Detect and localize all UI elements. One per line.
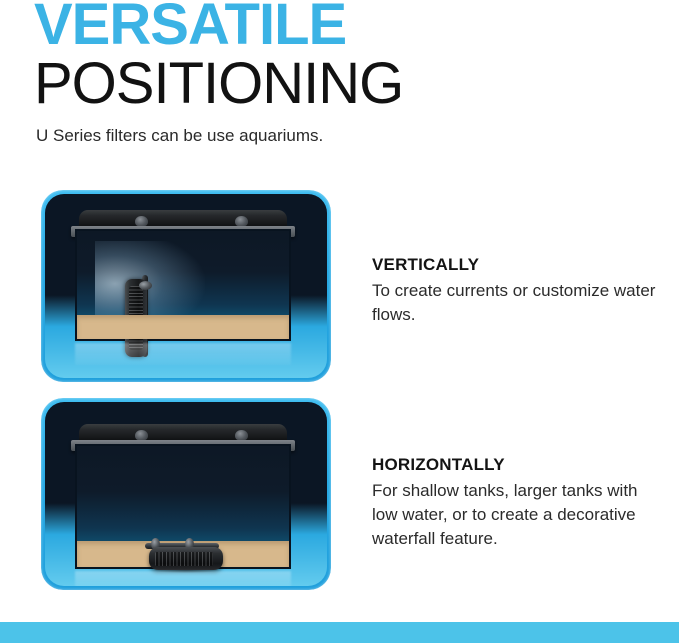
title-line-positioning: POSITIONING	[34, 54, 403, 114]
aquarium-image-vertical	[41, 190, 331, 382]
filter-horizontal	[143, 537, 223, 571]
gravel-bed	[77, 315, 289, 339]
tank-glass	[75, 444, 291, 569]
panel-scene	[45, 402, 327, 586]
filter-grille-ribs	[155, 552, 213, 566]
callout-vertical: VERTICALLY To create currents or customi…	[372, 255, 662, 327]
infographic-page: VERSATILE POSITIONING U Series filters c…	[0, 0, 679, 643]
callout-heading-vertical: VERTICALLY	[372, 255, 662, 275]
page-subtitle: U Series filters can be use aquariums.	[36, 126, 323, 146]
tank-glass	[75, 229, 291, 341]
page-title: VERSATILE POSITIONING	[34, 0, 403, 114]
callout-horizontal: HORIZONTALLY For shallow tanks, larger t…	[372, 455, 662, 551]
bottom-accent-bar	[0, 622, 679, 643]
callout-body-vertical: To create currents or customize water fl…	[372, 279, 662, 327]
tank-reflection	[75, 343, 291, 365]
callout-heading-horizontal: HORIZONTALLY	[372, 455, 662, 475]
panel-scene	[45, 194, 327, 378]
title-line-versatile: VERSATILE	[34, 0, 403, 52]
callout-body-horizontal: For shallow tanks, larger tanks with low…	[372, 479, 662, 551]
tank-reflection	[75, 571, 291, 586]
suction-cup-top	[139, 281, 152, 290]
aquarium-image-horizontal	[41, 398, 331, 590]
